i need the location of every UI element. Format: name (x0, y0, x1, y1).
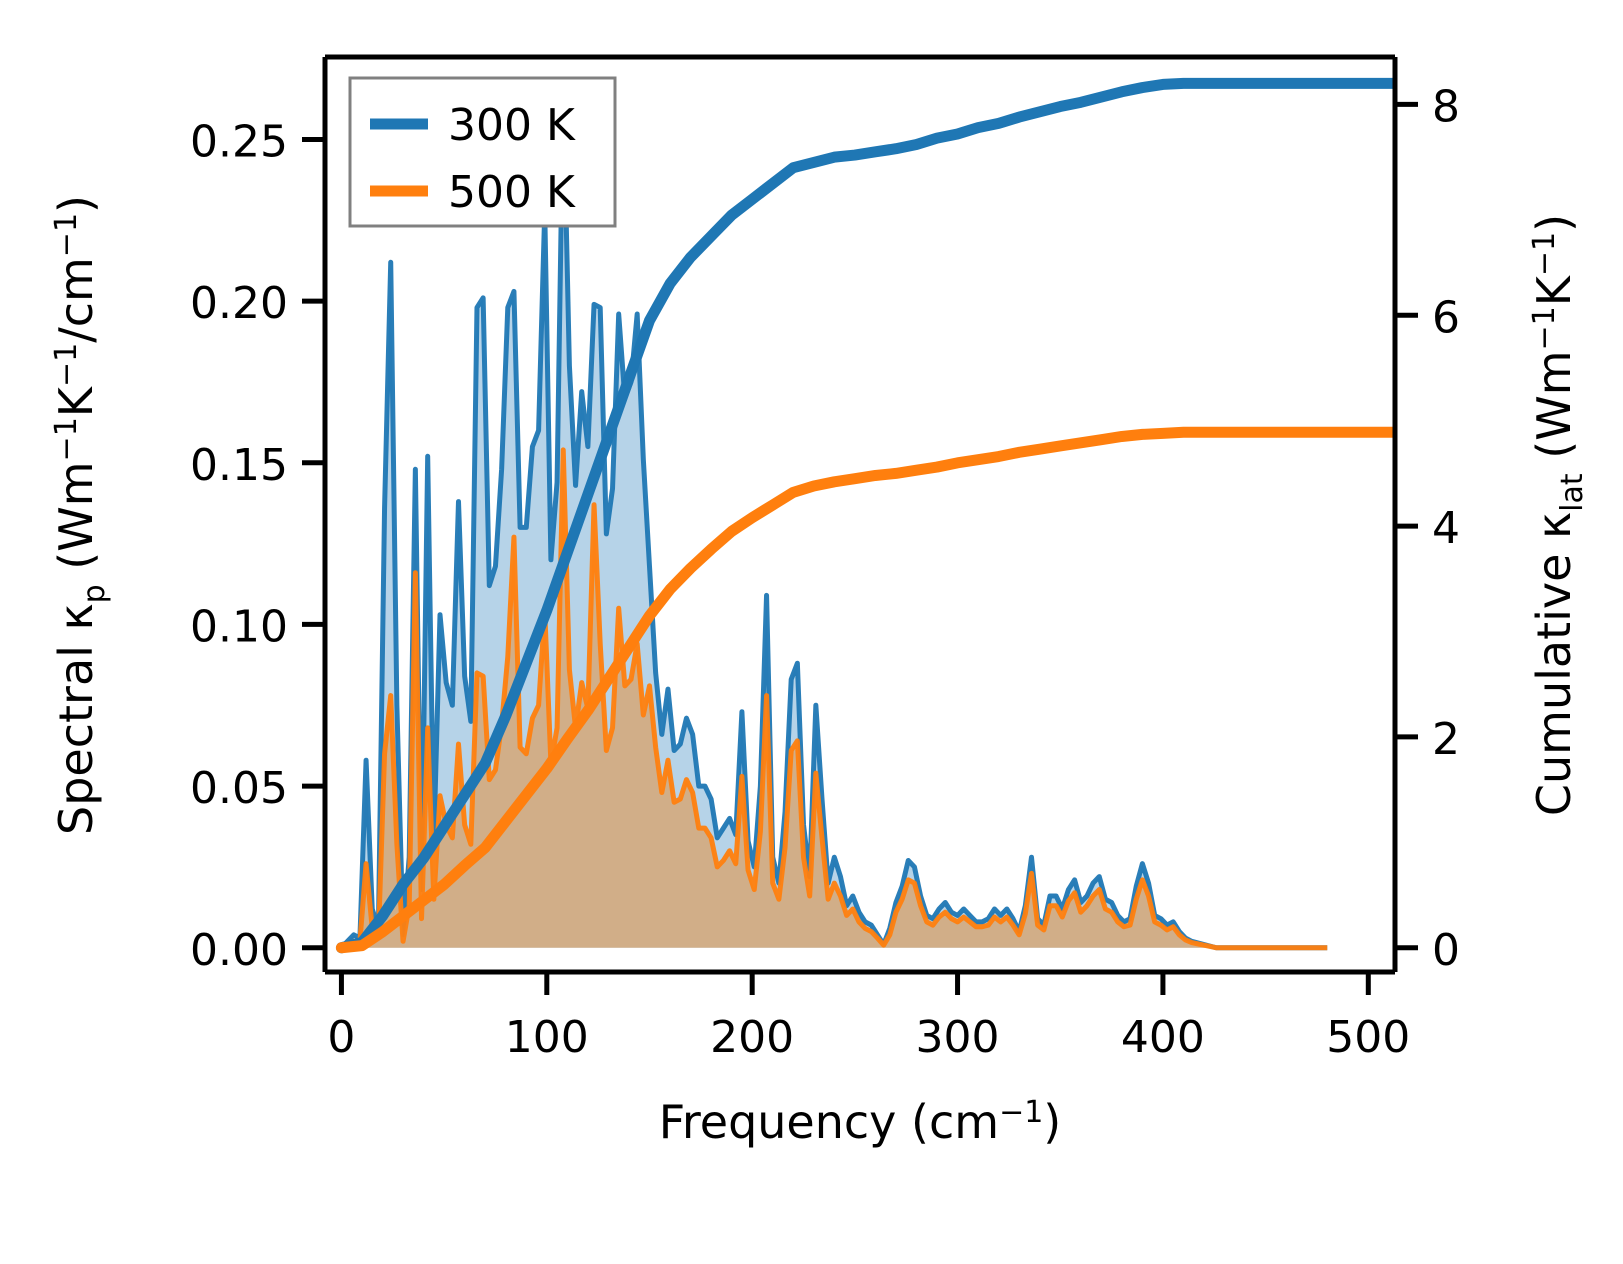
y-right-tick-label-4: 8 (1432, 81, 1460, 132)
y-right-tick-label-1: 2 (1432, 714, 1460, 765)
x-tick-label-2: 200 (710, 1012, 794, 1063)
y-left-tick-label-2: 0.10 (190, 601, 288, 652)
y-left-axis-label: Spectral κp (Wm−1K−1/cm−1) (49, 195, 112, 835)
x-tick-label-0: 0 (327, 1012, 355, 1063)
y-left-tick-label-3: 0.15 (190, 440, 288, 491)
x-tick-label-5: 500 (1326, 1012, 1410, 1063)
y-right-tick-label-3: 6 (1432, 292, 1460, 343)
chart-plot: 01002003004005000.000.050.100.150.200.25… (0, 0, 1623, 1264)
legend[interactable]: 300 K 500 K (350, 78, 615, 226)
y-left-tick-label-4: 0.20 (190, 278, 288, 329)
legend-label-300k: 300 K (448, 100, 576, 151)
legend-label-500k: 500 K (448, 167, 576, 218)
y-right-axis-label: Cumulative κlat (Wm−1K−1) (1527, 214, 1590, 816)
y-left-tick-label-1: 0.05 (190, 763, 288, 814)
x-tick-label-1: 100 (505, 1012, 589, 1063)
y-left-tick-label-0: 0.00 (190, 925, 288, 976)
x-tick-label-4: 400 (1121, 1012, 1205, 1063)
figure-canvas: 01002003004005000.000.050.100.150.200.25… (0, 0, 1623, 1264)
y-right-tick-label-2: 4 (1432, 503, 1460, 554)
y-left-tick-label-5: 0.25 (190, 116, 288, 167)
x-tick-label-3: 300 (916, 1012, 1000, 1063)
y-right-tick-label-0: 0 (1432, 925, 1460, 976)
